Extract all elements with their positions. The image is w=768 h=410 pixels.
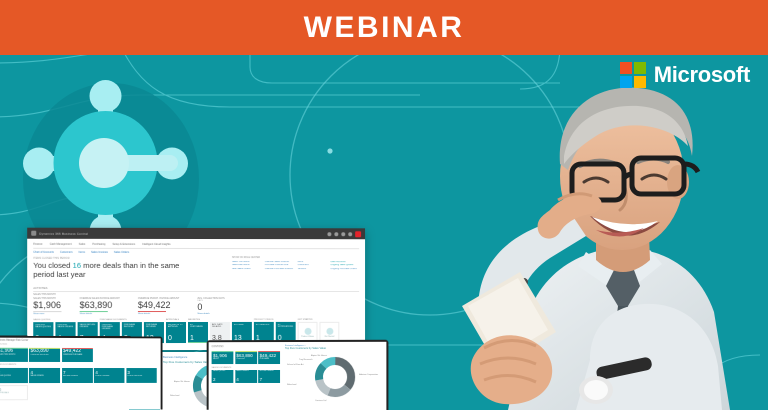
filters-title: SHOW ON ROLE CENTER xyxy=(232,257,359,259)
tile-caption: RETURN ORDERS xyxy=(63,374,91,376)
metric-tile[interactable]: 3 PURCH. INVOICES xyxy=(126,368,156,383)
kpi-card[interactable]: OVERDUE PURCH. INVOICE AMOUNT $49,422 Sh… xyxy=(138,298,179,315)
tile-caption: SALES QUOTES xyxy=(213,371,232,372)
quick-link-sales-orders[interactable]: Sales Orders xyxy=(114,251,129,254)
kpi-row: SALES THIS MONTH $1,906 Show more OVERDU… xyxy=(33,298,359,315)
tile-caption: Product Videos xyxy=(301,335,314,337)
yellow-square xyxy=(634,76,646,88)
filter-1[interactable]: Overdue Sales Invoices xyxy=(265,261,294,263)
kpi-caption: OVERDUE PURCHASE xyxy=(63,354,91,356)
browser-window[interactable]: Dynamics 365 Business Central Finance Ca… xyxy=(27,228,365,351)
filter-10[interactable]: Vendors xyxy=(298,268,327,270)
tile-value: 7 xyxy=(260,377,279,382)
kpi-caption: PURCHASE xyxy=(260,358,279,360)
donut-title: Top Five Customers by Sales Value xyxy=(163,360,211,364)
tile-caption: ONGOING SALES ORDERS xyxy=(57,324,73,329)
kpi-footer-link[interactable]: Show details xyxy=(138,313,179,315)
headline-pre: You closed xyxy=(33,261,72,270)
blue-square xyxy=(620,76,632,88)
tile-caption: AVG. DAYS DELAYED xyxy=(212,324,228,329)
donut-label-1: Relecloud xyxy=(170,395,180,397)
kpi-card[interactable]: $1,906 SALES THIS MONTH xyxy=(0,347,27,361)
laptop-left-bezel: Business Manager Role Center ACTIVITIES … xyxy=(0,336,163,410)
kpi-card[interactable]: $1,906 SALES xyxy=(212,351,234,364)
hub-sprocket-icon xyxy=(18,75,193,250)
headline: You closed 16 more deals than in the sam… xyxy=(33,261,184,280)
quick-link-sales-invoices[interactable]: Sales Invoices xyxy=(91,251,108,254)
kpi-value: 0 xyxy=(197,302,224,311)
webinar-promo-graphic: WEBINAR xyxy=(0,0,768,410)
kpi-value: $49,422 xyxy=(138,301,179,310)
filter-0[interactable]: Sales This Month xyxy=(232,261,261,263)
play-circle-icon xyxy=(304,327,311,334)
laptop-left[interactable]: Business Manager Role Center ACTIVITIES … xyxy=(0,336,163,410)
svg-text:Contoso Ltd: Contoso Ltd xyxy=(315,399,327,402)
kpi-card[interactable]: $63,890 OVERDUE INVOICES xyxy=(29,347,60,361)
svg-text:Trey Research: Trey Research xyxy=(299,358,313,361)
kpi-group-label: SALES THIS MONTH xyxy=(33,294,359,296)
tile-group-label: APPROVALS xyxy=(166,319,186,321)
kpi-value: $63,890 xyxy=(80,301,120,310)
tile-caption: MY ITEMS xyxy=(234,324,250,326)
metric-tile[interactable]: SALES QUOTES 2 xyxy=(212,370,234,383)
tile-caption: RETURN ORDERS xyxy=(260,371,279,372)
kpi-card[interactable]: OVERDUE SALES INVOICE AMOUNT $63,890 Sho… xyxy=(80,298,120,315)
metric-tile[interactable]: 7 RETURN ORDERS xyxy=(62,368,93,383)
tile-caption: Get Started xyxy=(325,335,335,337)
tile-accent-bar xyxy=(188,342,208,343)
headline-kicker: ITEMS CLOSED THIS PERIOD xyxy=(33,257,184,260)
filter-11[interactable]: Ongoing Purchase Orders xyxy=(330,268,359,270)
tile-group-label: GET STARTED xyxy=(298,319,340,321)
tile-caption: REQUESTS TO APPROVE xyxy=(168,324,184,329)
banner-title: WEBINAR xyxy=(304,13,465,43)
metric-tile[interactable]: RETURN ORDERS 7 xyxy=(258,370,280,383)
businessman-photo xyxy=(400,60,768,410)
laptop-center-kpi-row: $1,906 SALES $63,890 OVERDUE $49,422 PUR… xyxy=(212,351,280,364)
kpi-bar xyxy=(33,311,61,312)
nav-item-intelligent-cloud[interactable]: Intelligent Cloud Insights xyxy=(142,243,170,246)
kpi-bar xyxy=(138,311,166,312)
tile-caption: PURCHASE INVOICES xyxy=(124,324,140,329)
card-accent xyxy=(29,347,60,349)
metric-tile[interactable]: 4 PURCH. ORDERS xyxy=(94,368,125,383)
metric-tile[interactable]: MY CUSTOMERS 1 xyxy=(188,322,208,343)
microsoft-four-squares-logo-icon xyxy=(620,62,646,88)
card-accent xyxy=(212,351,234,352)
tile-caption: SALES ORDERS xyxy=(236,371,255,372)
tile-caption: SALES ORDERS xyxy=(30,375,58,377)
close-icon[interactable] xyxy=(355,231,361,237)
filters-panel: SHOW ON ROLE CENTER Sales This Month Ove… xyxy=(232,257,359,280)
tile-group-label: PRODUCT VIDEOS xyxy=(254,319,296,321)
tile-caption: MY VENDORS xyxy=(256,324,272,326)
settings-icon[interactable] xyxy=(341,232,345,236)
window-title: Dynamics 365 Business Central xyxy=(39,231,88,235)
rocket-circle-icon xyxy=(326,327,333,334)
kpi-caption: SALES THIS MONTH xyxy=(0,354,26,356)
tile-caption: SALES RETURN ORDERS xyxy=(80,324,96,329)
tile-value: 2 xyxy=(213,377,232,382)
nav-item-finance[interactable]: Finance xyxy=(33,243,42,246)
app-icon xyxy=(31,231,36,236)
browser-titlebar: Dynamics 365 Business Central xyxy=(27,228,365,240)
kpi-footer-link[interactable]: Show details xyxy=(80,313,120,315)
tile-caption: APPROVALS xyxy=(0,392,25,394)
filter-9[interactable]: Overdue Purchase Invoices xyxy=(265,268,294,270)
laptop-left-group-label: SALES DOCUMENTS xyxy=(0,363,158,365)
kpi-bar xyxy=(80,311,108,312)
donut-chart-center: School of Fine Art Trey Research Alpine … xyxy=(285,351,385,403)
tile-group: APPROVALS REQUESTS TO APPROVE 0 xyxy=(166,319,186,343)
tile-value: 4 xyxy=(236,377,255,382)
section-divider xyxy=(33,290,359,291)
filter-5[interactable]: Purchase Invoices Due xyxy=(265,264,294,266)
tile-value: 0 xyxy=(168,335,184,342)
nav-item-sales[interactable]: Sales xyxy=(79,243,86,246)
svg-text:Relecloud: Relecloud xyxy=(287,384,297,386)
card-accent xyxy=(0,347,27,349)
metric-tile[interactable]: SALES ORDERS 4 xyxy=(235,370,257,383)
headline-block: ITEMS CLOSED THIS PERIOD You closed 16 m… xyxy=(33,257,184,280)
webinar-banner: WEBINAR xyxy=(0,0,768,55)
tile-caption: ONGOING SALES QUOTES xyxy=(35,324,51,329)
laptop-left-tiles: 2 SALES QUOTES 4 SALES ORDERS 7 RETURN O… xyxy=(0,368,158,400)
kpi-caption: SALES xyxy=(213,358,232,360)
filter-8[interactable]: New Sales Orders xyxy=(232,268,261,270)
laptop-center-chart-title: Top Five Customers by Sales Value xyxy=(285,346,385,349)
filter-7[interactable]: Ongoing Sales Quotes xyxy=(330,264,359,266)
dashboard-body: Finance Cash Management Sales Purchasing… xyxy=(27,239,365,351)
kpi-value: $1,906 xyxy=(33,301,61,310)
nav-item-purchasing[interactable]: Purchasing xyxy=(92,243,105,246)
filter-6[interactable]: Customers xyxy=(298,264,327,266)
tile-caption: PURCH. ORDERS xyxy=(95,374,123,376)
card-accent xyxy=(62,347,93,349)
kpi-card[interactable]: SALES THIS MONTH $1,906 Show more xyxy=(33,298,61,315)
green-square xyxy=(634,62,646,74)
kpi-footer-link[interactable]: Show details xyxy=(197,313,224,315)
tile-caption: MY NOTIFICATIONS xyxy=(278,324,294,329)
donut-label-0: Alpine Ski House xyxy=(174,380,191,383)
laptop-center[interactable]: CONTOSO $1,906 SALES $63,890 OVERDUE xyxy=(207,340,389,410)
filter-3[interactable]: Cash Accounts xyxy=(330,261,359,263)
tile-value: 1 xyxy=(190,335,206,342)
metric-tile[interactable]: REQUESTS TO APPROVE 0 xyxy=(166,322,186,343)
metric-tile[interactable]: 0 APPROVALS xyxy=(0,385,27,400)
kpi-card[interactable]: AVG. COLLECTION DAYS DAYS 0 Show details xyxy=(197,298,224,315)
svg-text:Alpine Ski House: Alpine Ski House xyxy=(311,354,328,357)
laptop-left-subtitle: ACTIVITIES xyxy=(0,343,158,346)
nav-item-setup-extensions[interactable]: Setup & Extensions xyxy=(112,243,135,246)
card-accent xyxy=(235,351,257,352)
tile-caption: SALES QUOTES xyxy=(0,375,26,377)
laptop-left-screen: Business Manager Role Center ACTIVITIES … xyxy=(0,338,161,410)
laptop-left-kpi-row: $1,906 SALES THIS MONTH $63,890 OVERDUE … xyxy=(0,347,158,361)
tile-caption: ONGOING PURCHASE ORDERS xyxy=(102,324,118,331)
kpi-card[interactable]: $49,422 PURCHASE xyxy=(258,351,280,364)
filter-2[interactable]: Items xyxy=(298,261,327,263)
metric-tile[interactable]: 4 SALES ORDERS xyxy=(29,368,60,383)
kpi-card[interactable]: $49,422 OVERDUE PURCHASE xyxy=(62,347,93,361)
microsoft-wordmark: Microsoft xyxy=(654,62,750,88)
laptop-center-tiles: SALES QUOTES 2 SALES ORDERS 4 RETURN ORD… xyxy=(212,370,280,383)
tile-caption: MY CUSTOMERS xyxy=(190,324,206,329)
help-icon[interactable] xyxy=(348,232,352,236)
microsoft-logo: Microsoft xyxy=(620,62,750,88)
quick-link-customers[interactable]: Customers xyxy=(60,251,73,254)
tile-caption: PURCH. INVOICES xyxy=(127,374,154,376)
tile-group-label: PURCHASE DOCUMENTS xyxy=(100,319,164,321)
kpi-caption: OVERDUE INVOICES xyxy=(30,354,58,356)
kpi-card[interactable]: $63,890 OVERDUE xyxy=(235,351,257,364)
laptop-center-screen: CONTOSO $1,906 SALES $63,890 OVERDUE xyxy=(209,342,387,410)
activities-section-label: ACTIVITIES xyxy=(33,286,359,289)
maximize-button[interactable] xyxy=(334,232,338,236)
donut-breadcrumb: Business Intelligence xyxy=(163,355,188,359)
kpi-caption: OVERDUE xyxy=(236,358,255,360)
filter-4[interactable]: Sales Last Month xyxy=(232,264,261,266)
quick-link-chart-of-accounts[interactable]: Chart of Accounts xyxy=(33,251,54,254)
laptop-center-panel-title: CONTOSO xyxy=(212,345,280,348)
laptop-left-title: Business Manager Role Center xyxy=(0,340,28,342)
tile-caption: PURCHASE RETURNS xyxy=(146,324,162,329)
tile-group-label: FAVORITES xyxy=(188,319,252,321)
filters-grid[interactable]: Sales This Month Overdue Sales Invoices … xyxy=(232,261,359,270)
nav-item-cash-management[interactable]: Cash Management xyxy=(50,243,72,246)
svg-text:School of Fine Art: School of Fine Art xyxy=(287,363,304,366)
tile-group-label: SALES QUOTES xyxy=(33,319,97,321)
svg-text:Adatum Corporation: Adatum Corporation xyxy=(359,373,379,376)
minimize-button[interactable] xyxy=(327,232,331,236)
metric-tile[interactable]: 2 SALES QUOTES xyxy=(0,368,27,383)
laptop-center-group-label: SALES DOCUMENTS xyxy=(212,367,280,369)
laptop-center-bezel: CONTOSO $1,906 SALES $63,890 OVERDUE xyxy=(207,340,389,410)
card-accent xyxy=(258,351,280,352)
kpi-footer-link[interactable]: Show more xyxy=(33,313,61,315)
red-square xyxy=(620,62,632,74)
quick-link-items[interactable]: Items xyxy=(79,251,85,254)
